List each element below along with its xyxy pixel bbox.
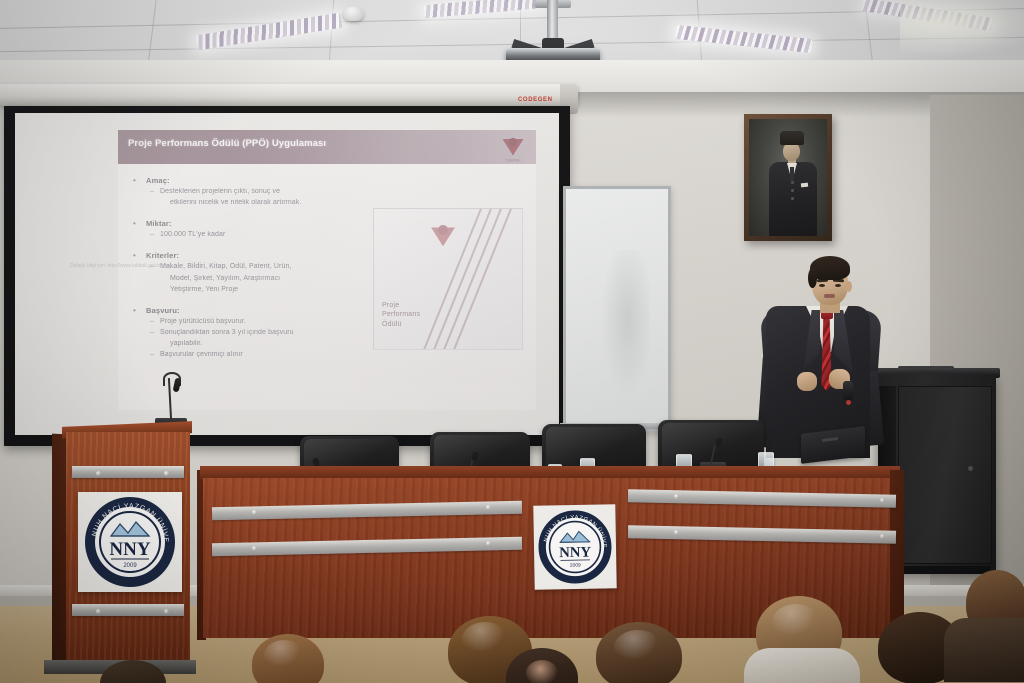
slide-bullet-group: Başvuru: Proje yürütücüsü başvurur. Sonu… [146, 306, 396, 361]
tubitak-logo-icon [426, 219, 460, 253]
portrait-pocket-square [801, 183, 808, 188]
nny-logo-icon: NUH NACİ YAZGAN ÜNİVERSİTESİ KAYSERİ NNY… [533, 504, 616, 589]
lectern-trim-screw [164, 609, 169, 614]
table-trim-screw [674, 494, 679, 499]
table-trim-screw [252, 546, 257, 551]
slide-inset-caption: Proje Performans Ödülü [382, 301, 420, 329]
presenter-remote[interactable] [843, 381, 853, 400]
tubitak-logo-icon: TÜBİTAK [498, 133, 528, 163]
lectern-trim-screw [164, 471, 169, 476]
smoke-detector-icon [343, 6, 364, 21]
bullet-item: Proje yürütücüsü başvurur. [160, 317, 396, 327]
nny-logo-icon: NUH NACİ YAZGAN ÜNİVERSİTESİ KAYSERİ NNY… [78, 492, 182, 592]
projector-mount-rod [547, 0, 558, 40]
presenter-hand-left [797, 372, 817, 391]
bullet-item-cont: Model, Şirket, Yayılım, Araştırmacı [170, 274, 396, 284]
portrait-canvas [749, 119, 827, 236]
projection-screen-case [0, 84, 578, 106]
cabinet-door[interactable] [898, 386, 992, 564]
presenter-remote-led-icon [846, 400, 851, 405]
caption-line: Ödülü [382, 320, 420, 329]
portrait-kalpak-hat-icon [780, 131, 804, 145]
presenter-sideburn [808, 268, 817, 288]
audience-shoulders [944, 618, 1024, 682]
hair-highlight [264, 640, 304, 670]
hair-highlight [462, 622, 508, 656]
bullet-item: Makale, Bildiri, Kitap, Ödül, Patent, Ür… [160, 262, 396, 272]
conference-room-photo: CODEGEN Proje Performans Ödülü (PPÖ) Uyg… [0, 0, 1024, 683]
hair-highlight [772, 604, 820, 640]
logo-year: 2009 [123, 563, 137, 569]
caption-line: Proje [382, 301, 420, 310]
window-glare [900, 0, 1024, 60]
bullet-item-cont: Yetiştirme, Yeni Proje [170, 285, 396, 295]
bullet-item-cont: yapılabilir. [170, 339, 396, 349]
logo-year: 2009 [570, 563, 581, 569]
bullet-heading: Amaç: [146, 176, 396, 185]
slide-footer-url: Detaylı bilgi için: http://www.tubitak.g… [70, 263, 170, 269]
cabinet-lock-icon[interactable] [968, 466, 973, 471]
table-trim-screw [486, 505, 491, 510]
logo-monogram: NNY [559, 545, 592, 562]
caption-line: Performans [382, 310, 420, 319]
presenter-mouth [824, 294, 835, 298]
bullet-item: Desteklenen projelerin çıktı, sonuç ve [160, 187, 396, 197]
hair-highlight [614, 630, 662, 664]
svg-text:TÜBİTAK: TÜBİTAK [505, 158, 521, 163]
table-trim-screw [252, 510, 257, 515]
bullet-item: Sonuçlandıktan sonra 3 yıl içinde başvur… [160, 328, 396, 338]
bullet-heading: Miktar: [146, 219, 396, 228]
table-trim-screw [486, 541, 491, 546]
screen-brand-label: CODEGEN [518, 97, 553, 103]
table-trim-screw [880, 534, 885, 539]
table-trim-screw [674, 530, 679, 535]
slide-bullet-group: Amaç: Desteklenen projelerin çıktı, sonu… [146, 176, 396, 208]
presenter-ear [845, 281, 852, 292]
slide-bullet-list: Amaç: Desteklenen projelerin çıktı, sonu… [146, 176, 396, 371]
lectern-trim-screw [96, 471, 101, 476]
table-trim-screw [880, 498, 885, 503]
slide-inset-image: Proje Performans Ödülü [373, 208, 523, 350]
bullet-item: 100.000 TL'ye kadar [160, 230, 396, 240]
audience-bald-highlight [526, 660, 558, 683]
projected-slide: Proje Performans Ödülü (PPÖ) Uygulaması … [118, 130, 536, 410]
framed-portrait [744, 114, 832, 241]
portrait-tie [790, 167, 794, 181]
bullet-heading: Kriterler: [146, 251, 396, 260]
whiteboard-smudge [600, 250, 650, 400]
logo-monogram: NNY [109, 539, 150, 560]
lectern-trim-screw [96, 609, 101, 614]
bullet-item: Başvurular çevrimiçi alınır [160, 350, 396, 360]
slide-bullet-group: Kriterler: Makale, Bildiri, Kitap, Ödül,… [146, 251, 396, 294]
slide-bullet-group: Miktar: 100.000 TL'ye kadar [146, 219, 396, 240]
slide-title: Proje Performans Ödülü (PPÖ) Uygulaması [128, 138, 326, 149]
audience-shoulders [744, 648, 860, 683]
lectern-university-logo-plaque: NUH NACİ YAZGAN ÜNİVERSİTESİ KAYSERİ NNY… [78, 492, 182, 592]
bullet-heading: Başvuru: [146, 306, 396, 315]
bullet-item-cont: etkilerini nicelik ve nitelik olarak art… [170, 198, 396, 208]
table-university-logo-plaque: NUH NACİ YAZGAN ÜNİVERSİTESİ KAYSERİ NNY… [533, 504, 616, 589]
